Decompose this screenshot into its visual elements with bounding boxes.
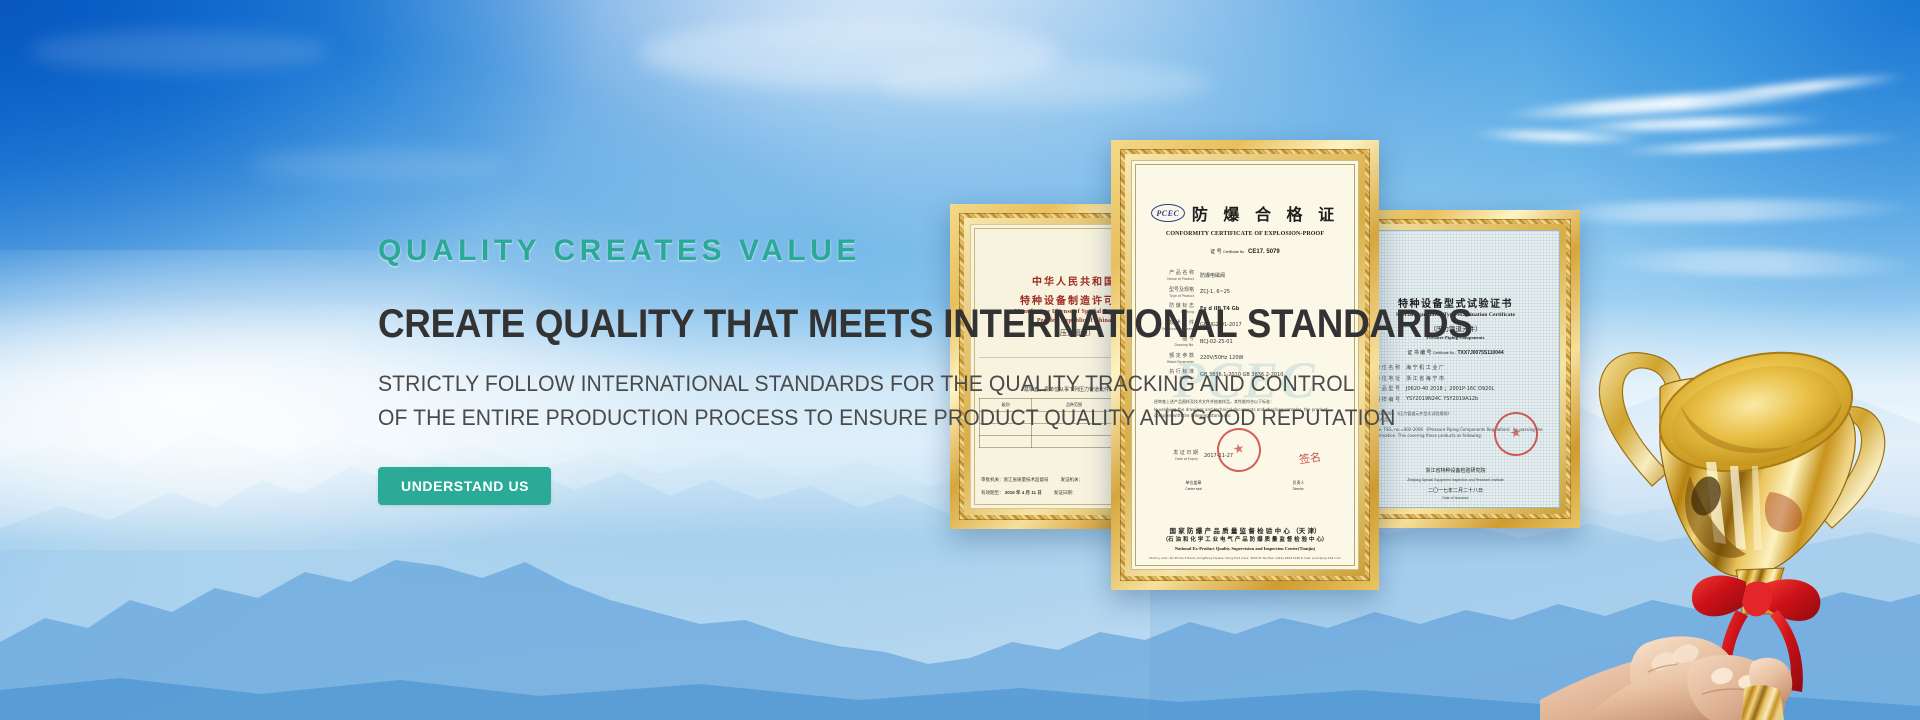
cert-center-footer-1: 国 家 防 爆 产 品 质 量 监 督 检 验 中 心 （天 津）: [1140, 526, 1350, 536]
description-line-1: STRICTLY FOLLOW INTERNATIONAL STANDARDS …: [378, 367, 1453, 400]
description-line-2: OF THE ENTIRE PRODUCTION PROCESS TO ENSU…: [378, 401, 1453, 434]
cert-center-title-row: PCEC防 爆 合 格 证: [1140, 201, 1350, 225]
page-title: CREATE QUALITY THAT MEETS INTERNATIONAL …: [378, 303, 1408, 345]
hero-banner: 中华人民共和国 特种设备制造许可证 Manufacture License of…: [0, 0, 1920, 720]
understand-us-button[interactable]: UNDERSTAND US: [378, 467, 551, 505]
cert-center-footer-fine: Factory add.: No.45 No.3 Road, DongFeng …: [1140, 556, 1350, 561]
cert-center-footer: 国 家 防 爆 产 品 质 量 监 督 检 验 中 心 （天 津） （石 油 和…: [1140, 526, 1350, 561]
cert-center-footer-3: National Ex-Product Quality Supervision …: [1140, 545, 1350, 552]
pcec-logo-icon: PCEC: [1151, 204, 1185, 222]
banner-copy: QUALITY CREATES VALUE CREATE QUALITY THA…: [378, 236, 1498, 505]
eyebrow-text: QUALITY CREATES VALUE: [378, 236, 1498, 266]
cert-center-cn-title: 防 爆 合 格 证: [1192, 201, 1339, 225]
banner-description: STRICTLY FOLLOW INTERNATIONAL STANDARDS …: [378, 367, 1453, 434]
cert-center-footer-2: （石 油 和 化 学 工 业 电 气 产 品 防 爆 质 量 监 督 检 验 中…: [1140, 536, 1350, 545]
